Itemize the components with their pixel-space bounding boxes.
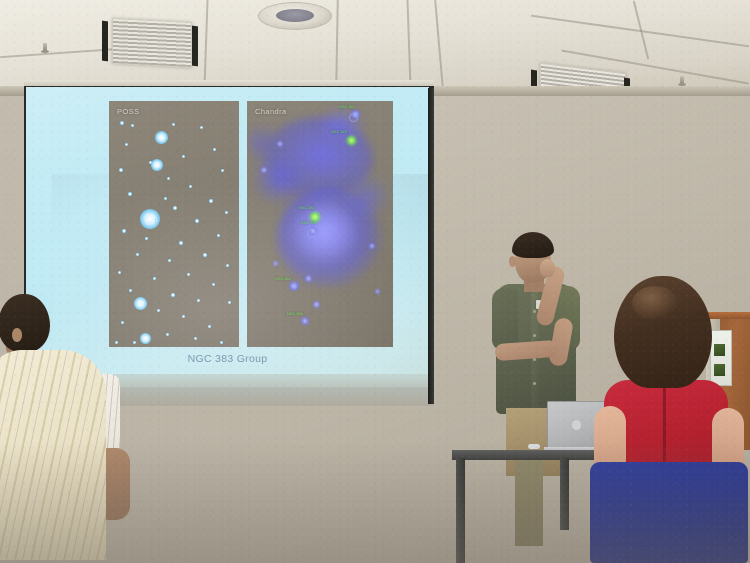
screen-side-edge xyxy=(428,88,434,404)
apple-logo-icon xyxy=(572,420,581,430)
presenter-hair xyxy=(512,232,554,258)
audience-right-hair-highlight xyxy=(632,286,678,320)
sprinkler-icon xyxy=(680,76,684,85)
ceiling-tile-seam xyxy=(406,0,411,88)
presenter-ear xyxy=(509,256,516,267)
shirt-button xyxy=(533,310,536,313)
source-label: NGC 385 xyxy=(287,312,303,316)
ceiling-tile-seam xyxy=(434,0,444,88)
sprinkler-icon xyxy=(43,43,47,52)
vent-edge xyxy=(192,26,198,67)
shirt-button xyxy=(533,334,536,337)
ceiling-tile-seam xyxy=(203,0,208,88)
presenter-hand-on-chin xyxy=(540,259,555,277)
conference-room-photo: POSS N xyxy=(0,0,750,563)
audience-left-head xyxy=(0,294,50,352)
source-label: NGC 379 xyxy=(301,221,317,225)
floor-shadow xyxy=(0,440,750,563)
source-label: NGC 382 xyxy=(299,206,315,210)
panel-label-chandra: Chandra xyxy=(255,107,287,116)
ceiling-air-vent-left xyxy=(112,18,192,68)
slide-panel-chandra: NGC 380 NGC 383 NGC 382 NGC 379 NGC 384 … xyxy=(247,101,393,347)
presenter-sleeve-left xyxy=(492,288,518,350)
source-label: NGC 383 xyxy=(331,130,347,134)
smoke-detector-icon xyxy=(258,2,332,30)
source-circle xyxy=(349,113,358,122)
audience-left-ear xyxy=(12,328,22,342)
panel-label-poss: POSS xyxy=(117,107,139,116)
source-label: NGC 380 xyxy=(339,105,355,109)
source-circle xyxy=(307,229,316,238)
ceiling-tile-seam xyxy=(335,0,339,88)
source-label: NGC 384 xyxy=(275,277,291,281)
shirt-button xyxy=(533,382,536,385)
vent-edge xyxy=(102,21,108,62)
